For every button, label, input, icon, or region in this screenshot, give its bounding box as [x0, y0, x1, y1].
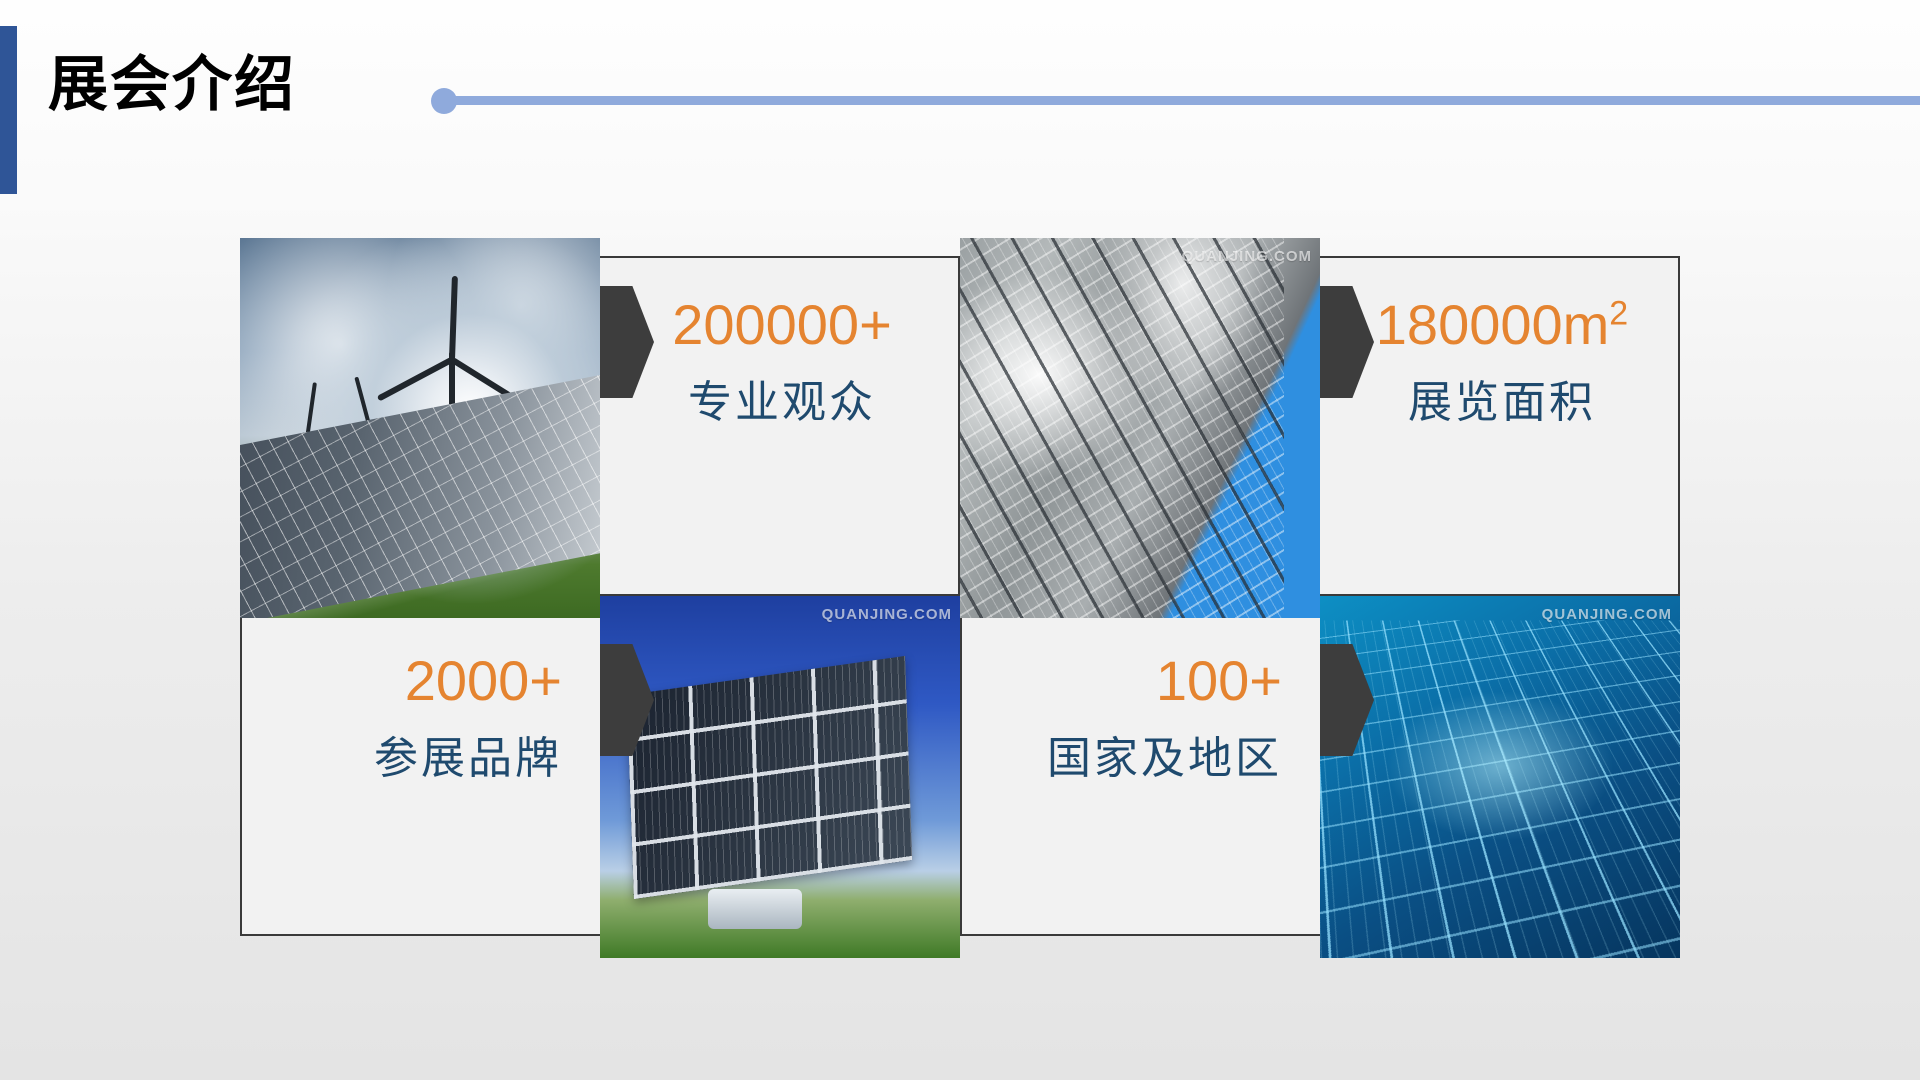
title-rule — [438, 96, 1920, 105]
stats-row-top: 200000+ 专业观众 QUANJING.COM 180000m2 展览面积 — [240, 256, 1681, 596]
stat-value-number: 180000m — [1376, 293, 1610, 356]
title-accent-bar — [0, 26, 17, 194]
stat-value: 2000+ — [405, 652, 562, 711]
stat-text-block: 100+ 国家及地区 — [962, 598, 1322, 934]
stat-card-countries-and-regions[interactable]: 100+ 国家及地区 QUANJING.COM — [960, 596, 1680, 936]
stat-value: 100+ — [1156, 652, 1282, 711]
stats-grid: 200000+ 专业观众 QUANJING.COM 180000m2 展览面积 … — [240, 256, 1681, 936]
stat-value-superscript: 2 — [1609, 294, 1628, 332]
card-image-cyan-grid: QUANJING.COM — [1320, 596, 1680, 958]
stats-row-bottom: 2000+ 参展品牌 QUANJING.COM 100+ 国家及地区 QUANJ… — [240, 596, 1681, 936]
card-image-wind-turbines — [240, 238, 600, 618]
stat-card-exhibiting-brands[interactable]: 2000+ 参展品牌 QUANJING.COM — [240, 596, 960, 936]
stat-label: 参展品牌 — [374, 735, 562, 783]
stat-label: 国家及地区 — [1047, 735, 1282, 783]
card-image-tilted-module: QUANJING.COM — [600, 596, 960, 958]
card-image-silver-panels: QUANJING.COM — [960, 238, 1320, 618]
stat-label: 展览面积 — [1408, 379, 1596, 427]
stat-value: 180000m2 — [1376, 296, 1628, 355]
stat-value: 200000+ — [672, 296, 892, 355]
stat-text-block: 180000m2 展览面积 — [1322, 258, 1682, 594]
stat-card-professional-visitors[interactable]: 200000+ 专业观众 — [240, 256, 960, 596]
stat-text-block: 2000+ 参展品牌 — [242, 598, 602, 934]
stat-card-exhibition-area[interactable]: QUANJING.COM 180000m2 展览面积 — [960, 256, 1680, 596]
stat-text-block: 200000+ 专业观众 — [602, 258, 962, 594]
stat-label: 专业观众 — [688, 379, 876, 427]
page-title: 展会介绍 — [48, 52, 296, 118]
